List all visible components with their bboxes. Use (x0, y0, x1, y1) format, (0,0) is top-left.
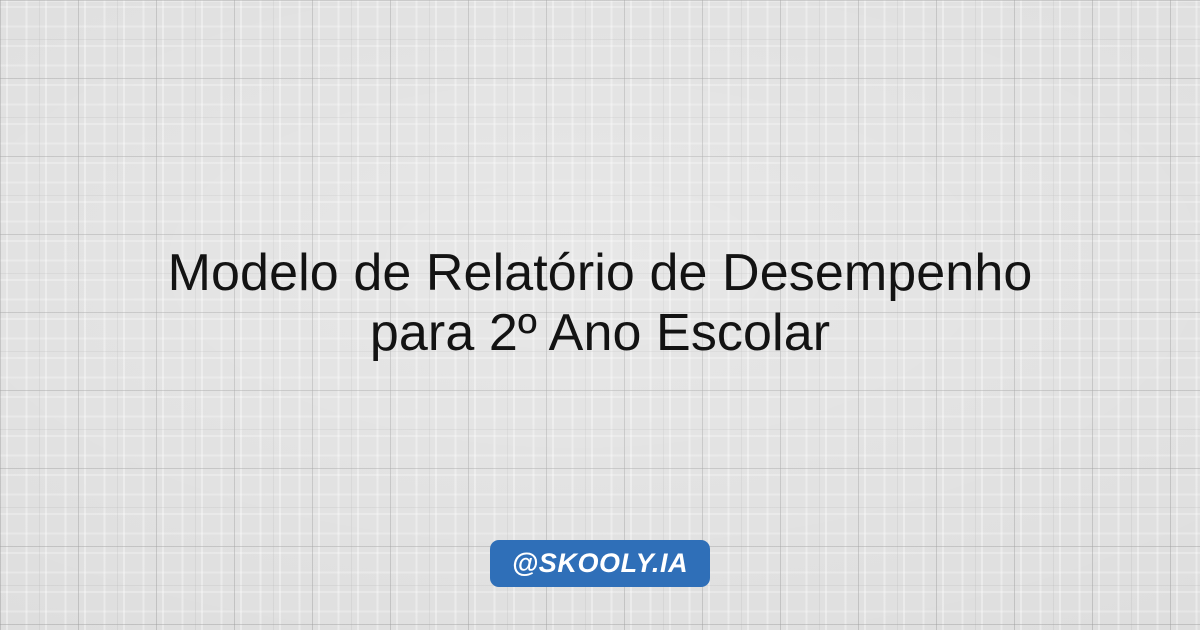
watermark-badge-container: @SKOOLY.IA (0, 540, 1200, 587)
watermark-badge-label: @SKOOLY.IA (512, 550, 688, 577)
page-title-line-2: para 2º Ano Escolar (24, 303, 1176, 363)
poster-canvas: Modelo de Relatório de Desempenho para 2… (0, 0, 1200, 630)
page-title-line-1: Modelo de Relatório de Desempenho (24, 243, 1176, 303)
watermark-badge[interactable]: @SKOOLY.IA (490, 540, 710, 587)
page-title: Modelo de Relatório de Desempenho para 2… (0, 243, 1200, 363)
